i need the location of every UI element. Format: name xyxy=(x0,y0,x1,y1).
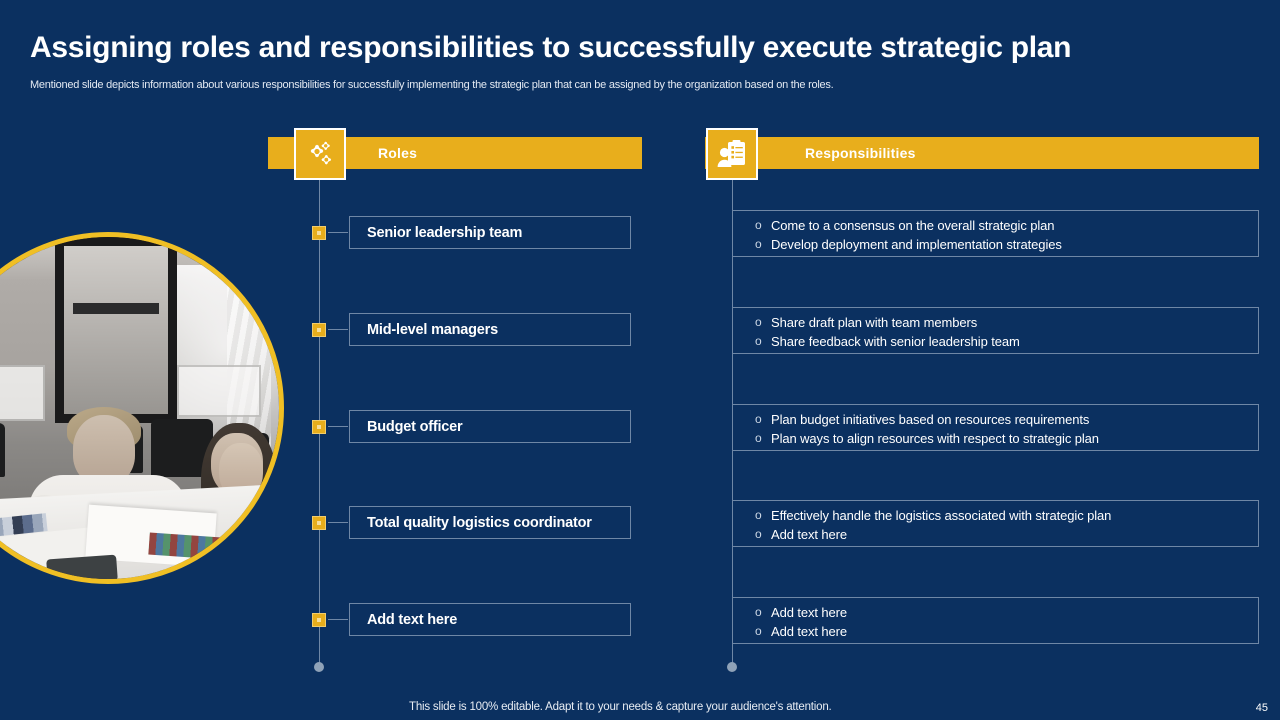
responsibility-text: Develop deployment and implementation st… xyxy=(771,235,1062,254)
role-label: Budget officer xyxy=(367,419,462,435)
photo-door-bar xyxy=(73,303,159,314)
responsibility-item: o Plan ways to align resources with resp… xyxy=(755,429,1258,448)
row-connector-line xyxy=(328,329,348,330)
responsibility-item: o Develop deployment and implementation … xyxy=(755,235,1258,254)
gears-icon xyxy=(294,128,346,180)
row-connector-line xyxy=(328,619,348,620)
role-label: Mid-level managers xyxy=(367,322,498,338)
responsibility-item: o Share draft plan with team members xyxy=(755,313,1258,332)
responsibility-text: Share feedback with senior leadership te… xyxy=(771,332,1020,351)
photo-shelf-left xyxy=(0,365,45,421)
responsibilities-rail-end-dot xyxy=(727,662,737,672)
bullet-icon: o xyxy=(755,313,771,332)
responsibility-item: o Add text here xyxy=(755,525,1258,544)
responsibilities-header-label: Responsibilities xyxy=(805,145,916,161)
responsibility-item: o Add text here xyxy=(755,603,1258,622)
bullet-icon: o xyxy=(755,332,771,351)
responsibility-box[interactable]: o Come to a consensus on the overall str… xyxy=(733,210,1259,257)
bullet-icon: o xyxy=(755,622,771,641)
slide-root: Assigning roles and responsibilities to … xyxy=(0,0,1280,720)
photo-chair xyxy=(0,423,5,477)
page-number: 45 xyxy=(1256,702,1268,714)
responsibility-text: Add text here xyxy=(771,603,847,622)
role-box[interactable]: Budget officer xyxy=(349,410,631,443)
photo-man-hand-left xyxy=(65,581,113,584)
bullet-icon: o xyxy=(755,410,771,429)
role-label: Senior leadership team xyxy=(367,225,522,241)
row-connector xyxy=(312,613,326,627)
person-clipboard-icon xyxy=(706,128,758,180)
bullet-icon: o xyxy=(755,429,771,448)
responsibility-text: Add text here xyxy=(771,622,847,641)
page-subtitle: Mentioned slide depicts information abou… xyxy=(30,78,1030,93)
responsibility-item: o Share feedback with senior leadership … xyxy=(755,332,1258,351)
row-connector xyxy=(312,516,326,530)
photo-background xyxy=(0,237,279,579)
photo-shelf-right xyxy=(177,365,261,417)
responsibility-item: o Effectively handle the logistics assoc… xyxy=(755,506,1258,525)
row-connector-line xyxy=(328,232,348,233)
responsibility-box[interactable]: o Plan budget initiatives based on resou… xyxy=(733,404,1259,451)
responsibility-text: Effectively handle the logistics associa… xyxy=(771,506,1111,525)
bullet-icon: o xyxy=(755,525,771,544)
page-title: Assigning roles and responsibilities to … xyxy=(30,29,1210,67)
role-box[interactable]: Total quality logistics coordinator xyxy=(349,506,631,539)
responsibility-text: Share draft plan with team members xyxy=(771,313,977,332)
responsibility-item: o Add text here xyxy=(755,622,1258,641)
responsibility-text: Come to a consensus on the overall strat… xyxy=(771,216,1054,235)
row-connector xyxy=(312,323,326,337)
responsibility-item: o Come to a consensus on the overall str… xyxy=(755,216,1258,235)
row-connector-line xyxy=(328,426,348,427)
bullet-icon: o xyxy=(755,506,771,525)
responsibilities-header-bar: Responsibilities xyxy=(705,137,1259,169)
photo-phone xyxy=(46,555,118,584)
row-connector xyxy=(312,420,326,434)
photo-door-frame xyxy=(55,237,177,423)
bullet-icon: o xyxy=(755,216,771,235)
role-label: Total quality logistics coordinator xyxy=(367,515,592,531)
role-box[interactable]: Senior leadership team xyxy=(349,216,631,249)
footer-note: This slide is 100% editable. Adapt it to… xyxy=(409,701,832,713)
responsibility-box[interactable]: o Effectively handle the logistics assoc… xyxy=(733,500,1259,547)
responsibility-box[interactable]: o Add text here o Add text here xyxy=(733,597,1259,644)
roles-rail-end-dot xyxy=(314,662,324,672)
role-box[interactable]: Mid-level managers xyxy=(349,313,631,346)
role-label: Add text here xyxy=(367,612,457,628)
bullet-icon: o xyxy=(755,235,771,254)
role-box[interactable]: Add text here xyxy=(349,603,631,636)
responsibility-item: o Plan budget initiatives based on resou… xyxy=(755,410,1258,429)
bullet-icon: o xyxy=(755,603,771,622)
responsibility-text: Plan budget initiatives based on resourc… xyxy=(771,410,1089,429)
row-connector-line xyxy=(328,522,348,523)
responsibility-box[interactable]: o Share draft plan with team members o S… xyxy=(733,307,1259,354)
team-meeting-photo xyxy=(0,232,284,584)
row-connector xyxy=(312,226,326,240)
responsibility-text: Plan ways to align resources with respec… xyxy=(771,429,1099,448)
roles-header-label: Roles xyxy=(378,145,417,161)
responsibility-text: Add text here xyxy=(771,525,847,544)
